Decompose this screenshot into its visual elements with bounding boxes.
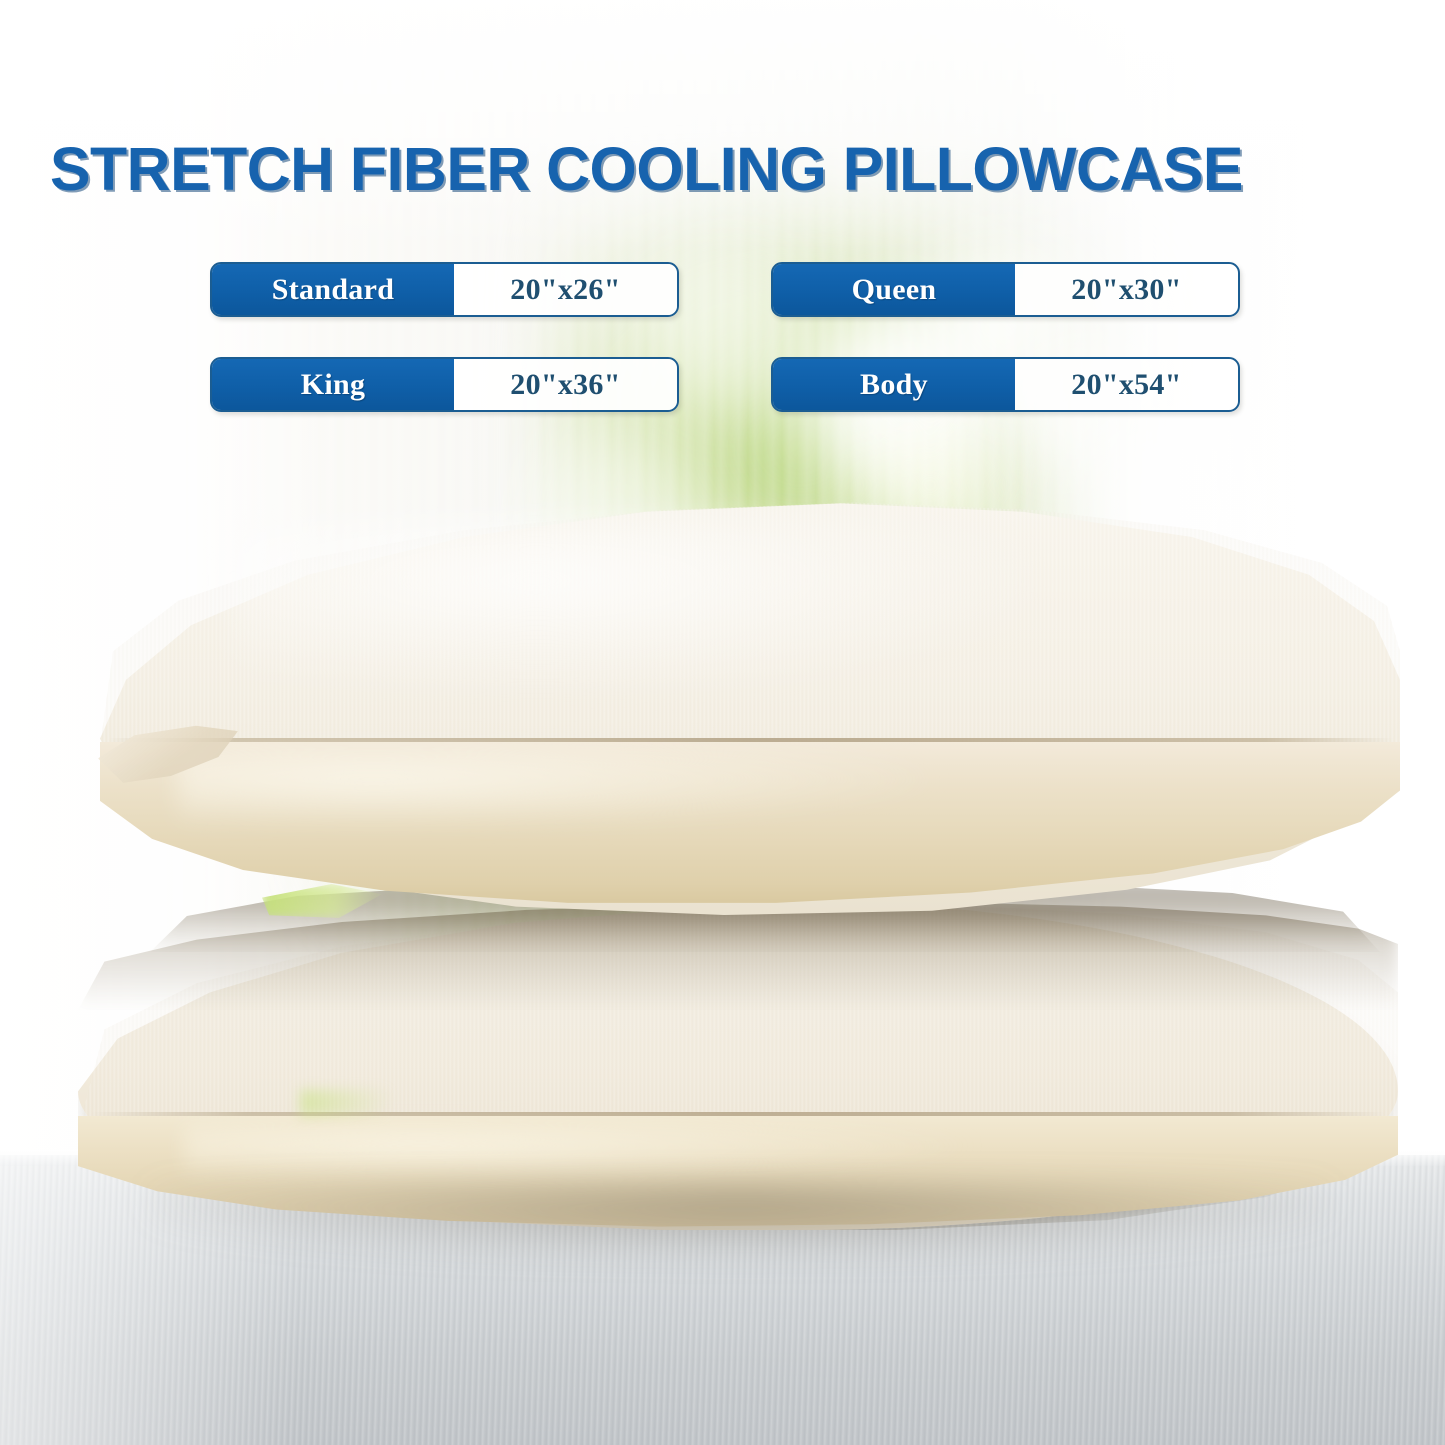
size-badge-label: Queen [773,264,1015,315]
size-badge-value: 20"x30" [1015,264,1238,315]
size-badge-standard: Standard 20"x26" [210,262,679,317]
size-badge-label: Body [773,359,1015,410]
size-badge-value: 20"x26" [454,264,677,315]
top-white-veil [0,0,1445,250]
size-badge-queen: Queen 20"x30" [771,262,1240,317]
size-chart-row: King 20"x36" Body 20"x54" [210,357,1240,412]
size-badge-value: 20"x36" [454,359,677,410]
pillow-top-sheen [230,519,1036,689]
pillow-top-seam [107,738,1394,742]
size-chart: Standard 20"x26" Queen 20"x30" King 20"x… [210,262,1240,452]
size-badge-king: King 20"x36" [210,357,679,412]
page-title: STRETCH FIBER COOLING PILLOWCASE [50,133,1435,205]
gap-greenery-lower [300,1090,390,1116]
size-chart-row: Standard 20"x26" Queen 20"x30" [210,262,1240,317]
size-badge-value: 20"x54" [1015,359,1238,410]
pillow-bottom-seam [91,1112,1385,1116]
pillow-top-highlight [178,747,932,827]
product-image-scene: STRETCH FIBER COOLING PILLOWCASE Standar… [0,0,1445,1445]
pillow-contact-shadow [150,1185,1330,1255]
size-badge-body: Body 20"x54" [771,357,1240,412]
size-badge-label: Standard [212,264,454,315]
pillow-top [100,495,1400,915]
size-badge-label: King [212,359,454,410]
pillow-bottom-highlight [184,1122,976,1182]
